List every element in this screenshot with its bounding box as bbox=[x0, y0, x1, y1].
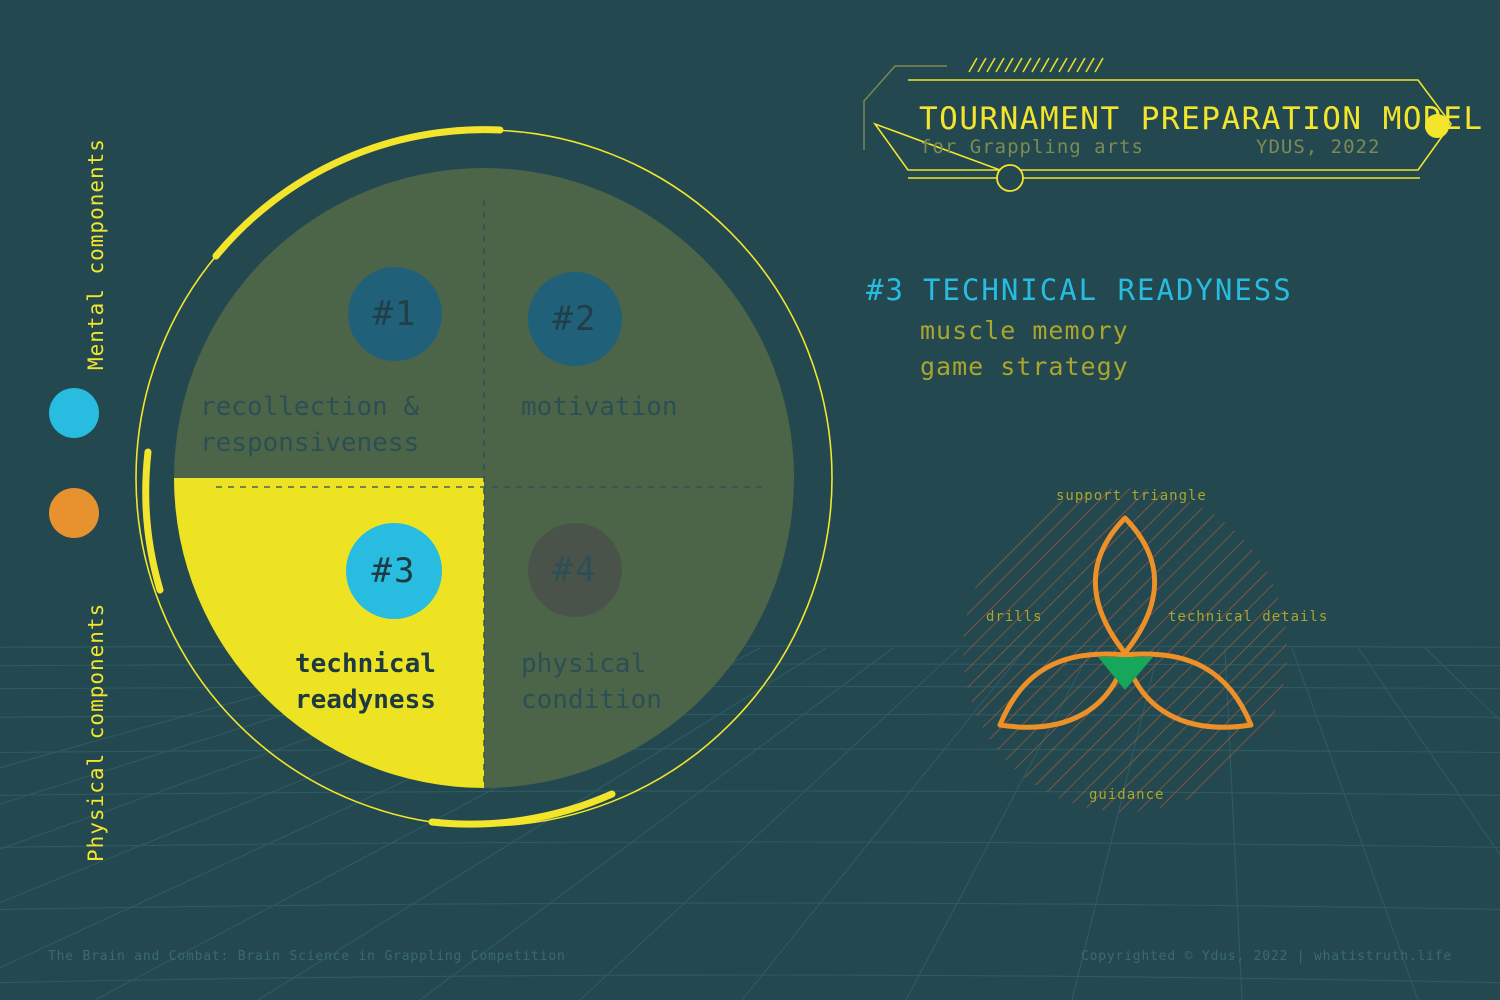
quadrant-badge-4[interactable]: #4 bbox=[528, 523, 622, 617]
quadrant-badge-2[interactable]: #2 bbox=[528, 272, 622, 366]
petal-right bbox=[1125, 654, 1251, 727]
legend-label-physical: Physical components bbox=[84, 603, 108, 862]
trefoil-label-left: drills bbox=[986, 609, 1043, 625]
trefoil-label-top: support triangle bbox=[1056, 488, 1207, 504]
quadrant-4-sector bbox=[484, 478, 794, 788]
detail-item: muscle memory bbox=[920, 316, 1129, 345]
header-hatch-ticks bbox=[969, 58, 1103, 72]
infographic-canvas: #1 #2 #3 #4 recollection & responsivenes… bbox=[0, 0, 1500, 1000]
header-subtitle: for Grappling arts bbox=[920, 136, 1144, 158]
center-triangle bbox=[1098, 657, 1153, 690]
trefoil-label-bottom: guidance bbox=[1089, 787, 1164, 803]
trefoil-label-right: technical details bbox=[1168, 609, 1328, 625]
quadrant-3-sector bbox=[174, 478, 484, 788]
ring-highlight-arcs bbox=[146, 130, 612, 824]
header-node-circle bbox=[997, 165, 1023, 191]
legend-dot-mental bbox=[49, 388, 99, 438]
petal-left bbox=[1000, 654, 1126, 727]
footer-copyright[interactable]: Copyrighted © Ydus, 2022 | whatistruth.l… bbox=[1081, 949, 1452, 964]
quadrant-label-4[interactable]: physical condition bbox=[521, 647, 662, 719]
detail-title: TECHNICAL READYNESS bbox=[923, 273, 1293, 307]
header-credit: YDUS, 2022 bbox=[1256, 136, 1380, 158]
detail-item: game strategy bbox=[920, 352, 1129, 381]
outer-ring bbox=[136, 130, 832, 826]
quadrant-label-1[interactable]: recollection & responsiveness bbox=[200, 390, 419, 462]
hatch-region bbox=[955, 480, 1295, 820]
quadrant-badge-3[interactable]: #3 bbox=[346, 523, 442, 619]
header-title: TOURNAMENT PREPARATION MODEL bbox=[919, 101, 1484, 137]
legend-label-mental: Mental components bbox=[84, 138, 108, 370]
quadrant-label-2[interactable]: motivation bbox=[521, 390, 678, 426]
legend-dot-physical bbox=[49, 488, 99, 538]
petal-top bbox=[1095, 518, 1154, 653]
quadrant-badge-1[interactable]: #1 bbox=[348, 267, 442, 361]
detail-number: #3 bbox=[866, 273, 905, 307]
footer-source: The Brain and Combat: Brain Science in G… bbox=[48, 949, 566, 964]
quadrant-label-3[interactable]: technical readyness bbox=[295, 647, 436, 719]
